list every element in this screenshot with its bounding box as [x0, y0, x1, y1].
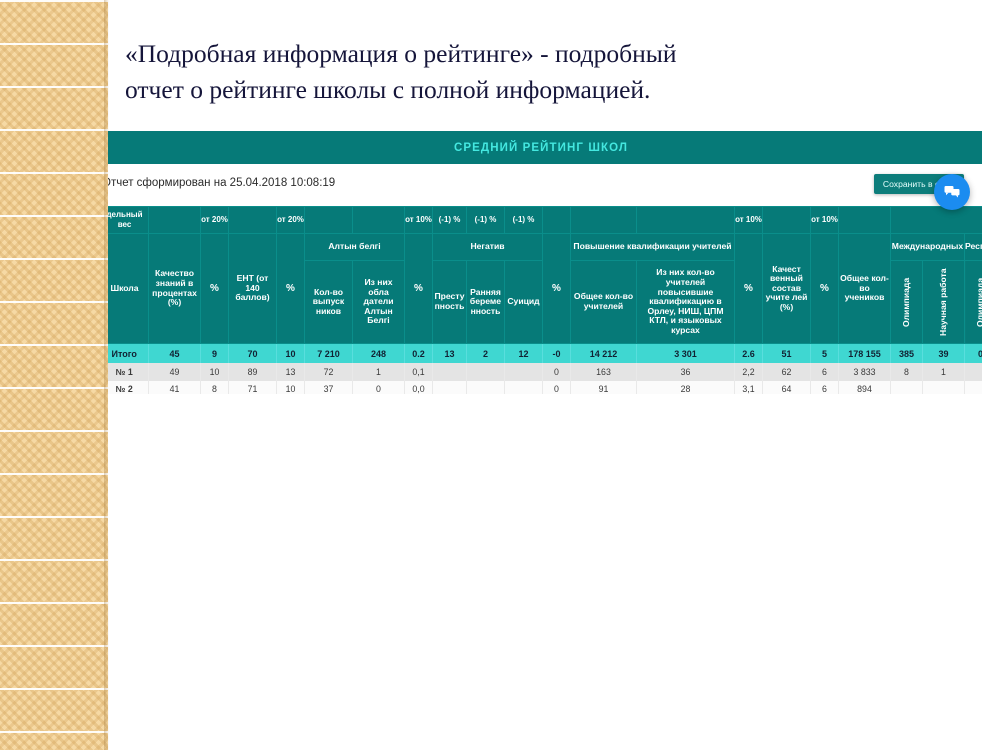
th-graduates-count: Кол-во выпуск ников [305, 261, 353, 344]
cell-value: 10 [201, 363, 229, 381]
cell-value: 49 [149, 363, 201, 381]
school-rating-table: дельный вес от 20% от 20% от 10% (-1) % … [108, 206, 982, 394]
th-weight-blank-11 [543, 207, 571, 234]
cell-value: 36 [637, 363, 735, 381]
th-group-international: Международных [891, 234, 965, 261]
table-row: № 241871103700,0091283,16468940 [108, 381, 982, 394]
th-total-teachers: Общее кол-во учителей [571, 261, 637, 344]
report-toolbar: Отчет сформирован на 25.04.2018 10:08:19… [108, 164, 982, 206]
group-header-row: Школа Качество знаний в процентах (%) % … [108, 234, 982, 261]
page-title: «Подробная информация о рейтинге» - подр… [125, 36, 935, 108]
cell-value: 6 [811, 381, 839, 394]
th-total-students: Общее кол-во учеников [839, 234, 891, 344]
app-header: СРЕДНИЙ РЕЙТИНГ ШКОЛ [108, 131, 982, 164]
th-international-olympiad: Олимпиада [891, 261, 923, 344]
th-negativ-percent: % [543, 234, 571, 344]
page-title-line-1: «Подробная информация о рейтинге» - подр… [125, 39, 677, 68]
cell-value: 1 [353, 363, 405, 381]
th-weight-8: (-1) % [433, 207, 467, 234]
cell-value [965, 381, 983, 394]
cell-school-label: № 2 [108, 381, 149, 394]
cell-value: 0 [353, 381, 405, 394]
cell-value: 894 [839, 381, 891, 394]
cell-value: 45 [149, 344, 201, 364]
decorative-sidebar-pattern [0, 0, 108, 750]
cell-value [505, 363, 543, 381]
cell-value: 3 301 [637, 344, 735, 364]
th-republican-olympiad: Олимпиада [965, 261, 983, 344]
cell-value: 6 [811, 363, 839, 381]
th-weight-blank-18 [891, 207, 983, 234]
th-ent-percent: % [277, 234, 305, 344]
cell-value: 89 [229, 363, 277, 381]
cell-value: 3 833 [839, 363, 891, 381]
th-altyn-percent: % [405, 234, 433, 344]
cell-value [891, 381, 923, 394]
th-quality-knowledge: Качество знаний в процентах (%) [149, 234, 201, 344]
th-quality-percent: % [201, 234, 229, 344]
cell-value [923, 381, 965, 394]
app-header-title: СРЕДНИЙ РЕЙТИНГ ШКОЛ [454, 142, 628, 154]
cell-value: 10 [277, 381, 305, 394]
cell-value: 9 [201, 344, 229, 364]
cell-value: 64 [763, 381, 811, 394]
th-ent: ЕНТ (от 140 баллов) [229, 234, 277, 344]
th-weight-10: (-1) % [505, 207, 543, 234]
cell-value: 91 [571, 381, 637, 394]
th-altyn-belgi-holders: Из них обла датели Алтын Белгі [353, 261, 405, 344]
cell-value: 72 [305, 363, 353, 381]
cell-value: 0 [965, 344, 983, 364]
cell-school-label: № 1 [108, 363, 149, 381]
cell-school-label: Итого [108, 344, 149, 364]
th-weight-blank-15 [763, 207, 811, 234]
cell-value [433, 363, 467, 381]
cell-value: 163 [571, 363, 637, 381]
cell-value: 71 [229, 381, 277, 394]
cell-value: 14 212 [571, 344, 637, 364]
cell-value [505, 381, 543, 394]
cell-value: 0 [543, 381, 571, 394]
rating-table-body: Итого45970107 2102480.213212-014 2123 30… [108, 344, 982, 395]
th-weight-14: от 10% [735, 207, 763, 234]
cell-value: 39 [923, 344, 965, 364]
cell-value: 0,0 [405, 381, 433, 394]
th-weight-blank-12 [571, 207, 637, 234]
cell-value: 37 [305, 381, 353, 394]
cell-value: 2,2 [735, 363, 763, 381]
cell-value: 7 210 [305, 344, 353, 364]
cell-value: 13 [277, 363, 305, 381]
th-weight-4: от 20% [277, 207, 305, 234]
th-early-pregnancy: Ранняя береме нность [467, 261, 505, 344]
cell-value: 0 [543, 363, 571, 381]
th-group-qualification: Повышение квалификации учителей [571, 234, 735, 261]
cell-value [433, 381, 467, 394]
cell-value: 5 [811, 344, 839, 364]
cell-value: 41 [149, 381, 201, 394]
cell-value: 51 [763, 344, 811, 364]
cell-value [965, 363, 983, 381]
cell-value: 13 [433, 344, 467, 364]
cell-value: 0,1 [405, 363, 433, 381]
th-weight-9: (-1) % [467, 207, 505, 234]
th-weight-16: от 10% [811, 207, 839, 234]
th-school: Школа [108, 234, 149, 344]
th-international-research: Научная работа [923, 261, 965, 344]
cell-value: 0.2 [405, 344, 433, 364]
th-group-republican: Республиканских [965, 234, 983, 261]
report-generated-label: Отчет сформирован на 25.04.2018 10:08:19 [108, 177, 335, 189]
chat-bubble-icon[interactable] [934, 174, 970, 210]
cell-value: 12 [505, 344, 543, 364]
cell-value: 8 [891, 363, 923, 381]
th-weight-blank-3 [229, 207, 277, 234]
cell-value: 28 [637, 381, 735, 394]
th-weight-blank-1 [149, 207, 201, 234]
th-qualified-teachers: Из них кол-во учителей повысившие квалиф… [637, 261, 735, 344]
cell-value: 10 [277, 344, 305, 364]
th-weight-2: от 20% [201, 207, 229, 234]
table-row: № 1491089137210,10163362,26263 833814 [108, 363, 982, 381]
th-group-negativ: Негатив [433, 234, 543, 261]
th-crime: Престу пность [433, 261, 467, 344]
th-weight-blank-6 [353, 207, 405, 234]
cell-value [467, 363, 505, 381]
app-screenshot: СРЕДНИЙ РЕЙТИНГ ШКОЛ Отчет сформирован н… [108, 131, 982, 541]
cell-value: 385 [891, 344, 923, 364]
cell-value: 62 [763, 363, 811, 381]
cell-value: 70 [229, 344, 277, 364]
rating-table-container[interactable]: дельный вес от 20% от 20% от 10% (-1) % … [108, 206, 982, 394]
cell-value [467, 381, 505, 394]
cell-value: -0 [543, 344, 571, 364]
th-teacher-composition-percent: % [811, 234, 839, 344]
cell-value: 3,1 [735, 381, 763, 394]
th-weight-blank-5 [305, 207, 353, 234]
weight-header-row: дельный вес от 20% от 20% от 10% (-1) % … [108, 207, 982, 234]
th-weight-7: от 10% [405, 207, 433, 234]
table-total-row: Итого45970107 2102480.213212-014 2123 30… [108, 344, 982, 364]
cell-value: 8 [201, 381, 229, 394]
cell-value: 178 155 [839, 344, 891, 364]
cell-value: 1 [923, 363, 965, 381]
th-qualification-percent: % [735, 234, 763, 344]
cell-value: 2.6 [735, 344, 763, 364]
th-weight-label: дельный вес [108, 207, 149, 234]
th-weight-blank-13 [637, 207, 735, 234]
th-suicide: Суицид [505, 261, 543, 344]
cell-value: 2 [467, 344, 505, 364]
th-weight-blank-17 [839, 207, 891, 234]
page-title-line-2: отчет о рейтинге школы с полной информац… [125, 72, 935, 108]
cell-value: 248 [353, 344, 405, 364]
th-group-altyn-belgi: Алтын белгі [305, 234, 405, 261]
th-teacher-composition: Качест венный состав учите лей (%) [763, 234, 811, 344]
